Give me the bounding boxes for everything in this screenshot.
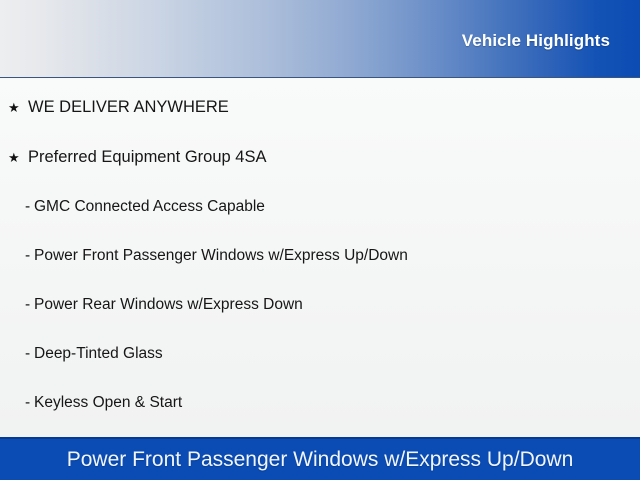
list-item: -Keyless Open & Start: [0, 392, 640, 414]
star-icon: ★: [8, 147, 28, 169]
list-item: -Power Front Passenger Windows w/Express…: [0, 245, 640, 267]
list-item-label: Power Rear Windows w/Express Down: [34, 296, 303, 313]
list-item: ★WE DELIVER ANYWHERE: [0, 96, 640, 118]
list-item-label: Preferred Equipment Group 4SA: [28, 148, 266, 166]
footer-caption-text: Power Front Passenger Windows w/Express …: [0, 439, 640, 480]
list-item-label: Keyless Open & Start: [34, 394, 182, 411]
dash-icon: -: [25, 343, 34, 365]
page-title: Vehicle Highlights: [462, 31, 610, 51]
footer-caption-bar: Power Front Passenger Windows w/Express …: [0, 437, 640, 480]
vehicle-highlights-slide: Vehicle Highlights ★WE DELIVER ANYWHERE …: [0, 0, 640, 480]
highlights-list: ★WE DELIVER ANYWHERE ★Preferred Equipmen…: [0, 79, 640, 437]
header-banner: Vehicle Highlights: [0, 0, 640, 78]
list-item: -Power Rear Windows w/Express Down: [0, 294, 640, 316]
list-item-label: Deep-Tinted Glass: [34, 345, 163, 362]
dash-icon: -: [25, 196, 34, 218]
list-item: -Deep-Tinted Glass: [0, 343, 640, 365]
dash-icon: -: [25, 245, 34, 267]
list-item: -GMC Connected Access Capable: [0, 196, 640, 218]
list-item: ★Preferred Equipment Group 4SA: [0, 146, 640, 168]
list-item-label: WE DELIVER ANYWHERE: [28, 98, 229, 116]
dash-icon: -: [25, 392, 34, 414]
dash-icon: -: [25, 294, 34, 316]
list-item-label: Power Front Passenger Windows w/Express …: [34, 247, 408, 264]
list-item-label: GMC Connected Access Capable: [34, 198, 265, 215]
star-icon: ★: [8, 97, 28, 119]
